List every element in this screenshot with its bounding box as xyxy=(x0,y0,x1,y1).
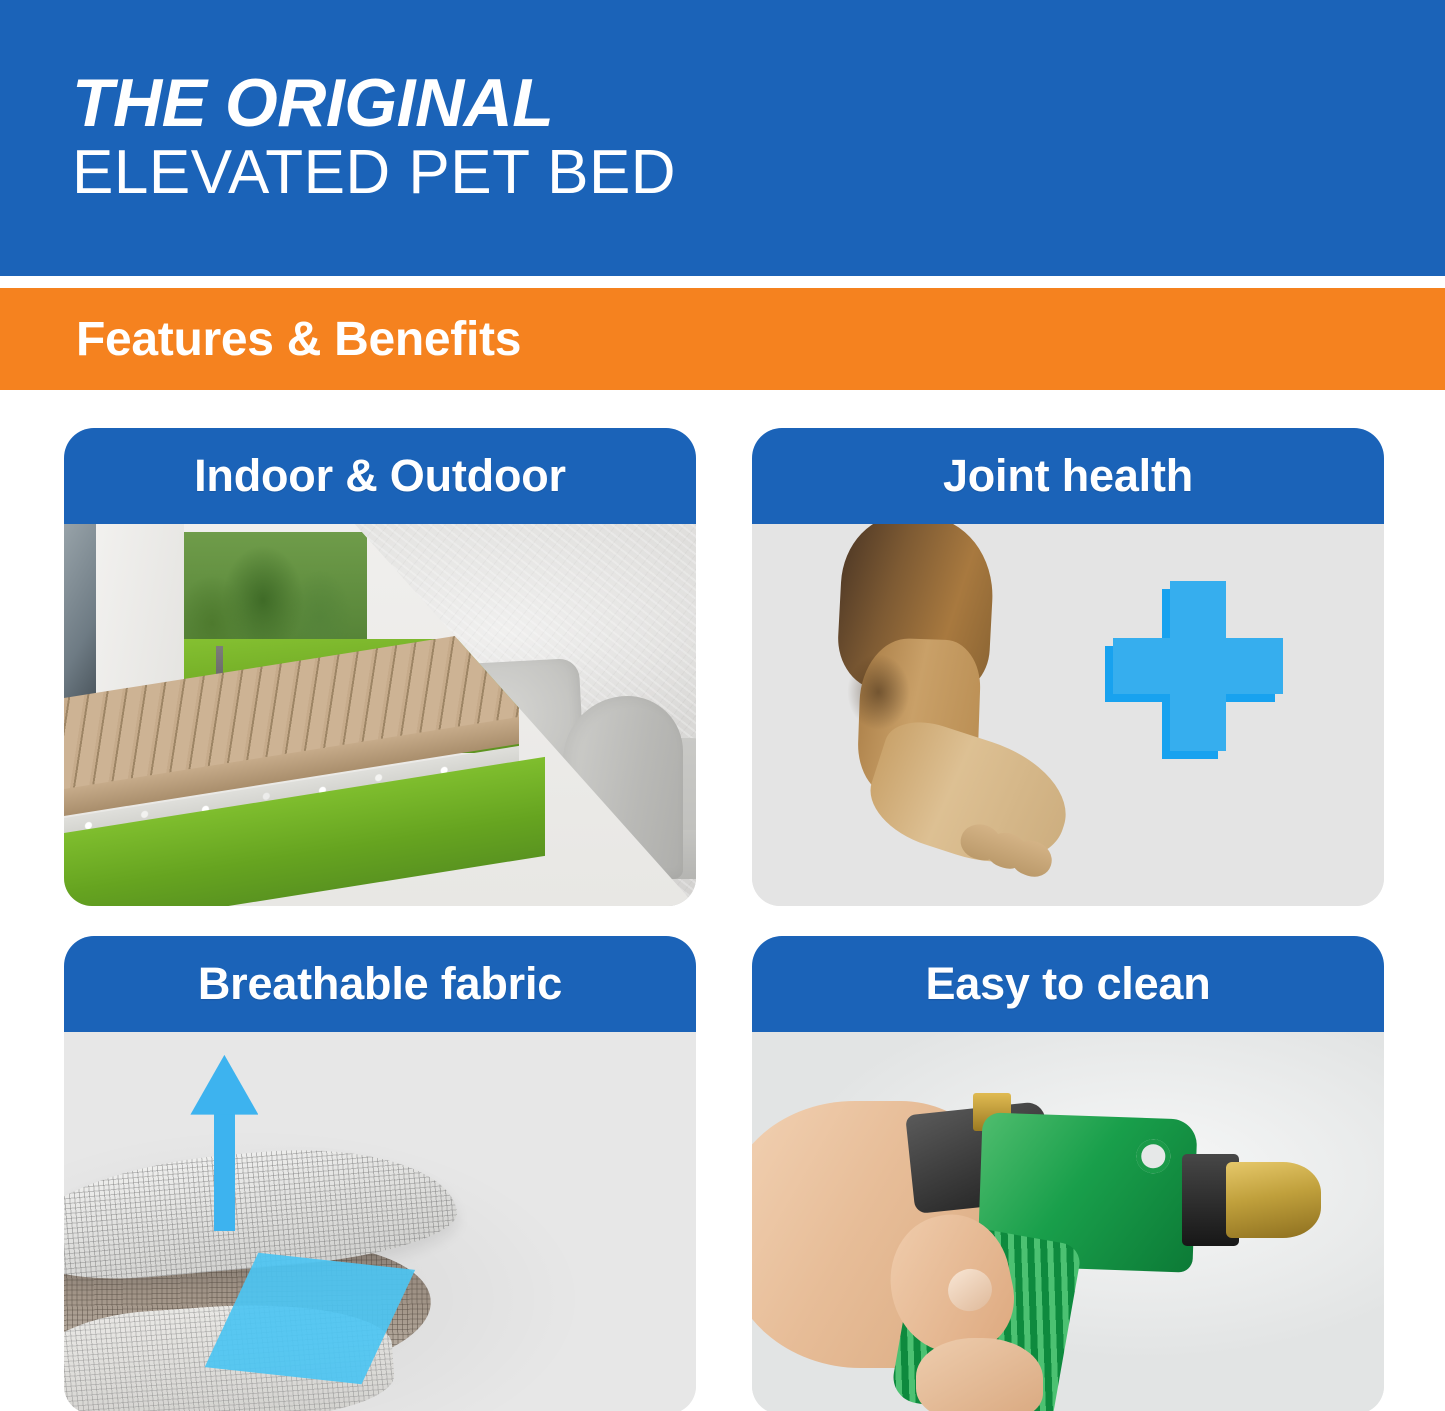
infographic-page: THE ORIGINAL ELEVATED PET BED Features &… xyxy=(0,0,1445,1411)
hero-banner: THE ORIGINAL ELEVATED PET BED xyxy=(0,0,1445,276)
arrow-head xyxy=(190,1055,258,1115)
card-title-easy-to-clean: Easy to clean xyxy=(925,958,1210,1010)
card-header-breathable-fabric: Breathable fabric xyxy=(64,936,696,1032)
fur-shading xyxy=(847,654,910,730)
card-header-easy-to-clean: Easy to clean xyxy=(752,936,1384,1032)
card-title-joint-health: Joint health xyxy=(943,450,1193,502)
card-title-indoor-outdoor: Indoor & Outdoor xyxy=(194,450,566,502)
hero-title-line2: ELEVATED PET BED xyxy=(72,138,1445,207)
features-section-title: Features & Benefits xyxy=(76,312,521,367)
mesh-fabric-photo xyxy=(64,1032,696,1411)
medical-cross-icon xyxy=(1113,581,1283,751)
card-media-easy-to-clean: A hand gripping a green garden hose spra… xyxy=(752,1032,1384,1411)
feature-card-indoor-outdoor: Indoor & Outdoor xyxy=(64,428,696,906)
dog-leg-photo xyxy=(752,524,1384,906)
card-media-breathable-fabric: Close-up of folded grey breathable mesh … xyxy=(64,1032,696,1411)
feature-card-joint-health: Joint health xyxy=(752,428,1384,906)
hero-title-line1: THE ORIGINAL xyxy=(72,69,1445,138)
arrow-stem xyxy=(214,1108,234,1231)
up-arrow-icon xyxy=(190,1055,258,1231)
nozzle-hang-hole xyxy=(1135,1139,1171,1174)
card-header-indoor-outdoor: Indoor & Outdoor xyxy=(64,428,696,524)
feature-card-easy-to-clean: Easy to clean xyxy=(752,936,1384,1411)
card-media-joint-health: Close-up photo of a dog's front leg and … xyxy=(752,524,1384,906)
features-grid: Indoor & Outdoor xyxy=(64,428,1384,1403)
finger xyxy=(916,1338,1042,1411)
card-header-joint-health: Joint health xyxy=(752,428,1384,524)
features-section-bar: Features & Benefits xyxy=(0,288,1445,390)
feature-card-breathable-fabric: Breathable fabric Close-up of folded gre… xyxy=(64,936,696,1411)
brass-nozzle-tip xyxy=(1226,1162,1321,1238)
hose-nozzle-photo xyxy=(752,1032,1384,1411)
card-media-indoor-outdoor: Diagonal split photo: outdoor wooden dec… xyxy=(64,524,696,906)
card-title-breathable-fabric: Breathable fabric xyxy=(198,958,562,1010)
split-scene-photo xyxy=(64,524,696,906)
medical-cross-shape xyxy=(1113,581,1283,751)
dog-paw xyxy=(859,711,1082,884)
